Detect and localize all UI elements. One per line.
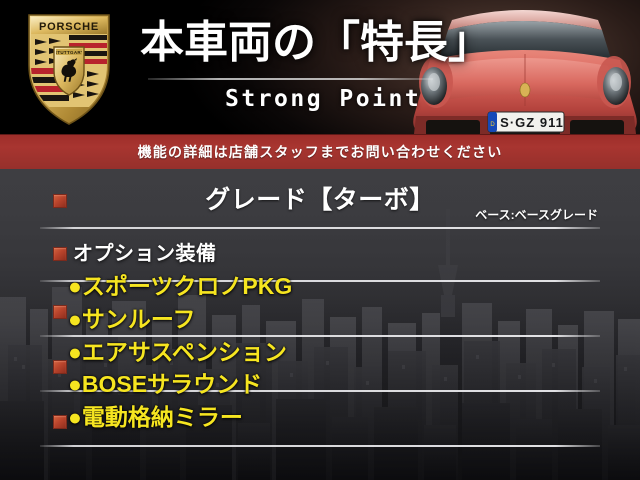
divider-line: [40, 445, 600, 447]
header-title: 本車両の「特長」: [140, 18, 492, 68]
square-bullet-icon: [53, 415, 67, 429]
header-divider: [148, 78, 433, 80]
header-banner: D S·GZ 911: [0, 0, 640, 134]
slide-root: D S·GZ 911: [0, 0, 640, 480]
contact-banner-text: 機能の詳細は店舗スタッフまでお問い合わせください: [138, 142, 503, 162]
grade-base-label: ベース:ベースグレード: [475, 206, 598, 223]
content-area: グレード【ターボ】 ベース:ベースグレード オプション装備 ●スポーツクロノPK…: [0, 169, 640, 480]
svg-text:D: D: [490, 122, 495, 128]
square-bullet-icon: [53, 247, 67, 261]
option-item: ●サンルーフ: [68, 300, 196, 334]
option-item: ●エアサスペンション: [68, 333, 287, 367]
divider-line: [40, 227, 600, 229]
option-item: ●電動格納ミラー: [68, 398, 243, 432]
license-plate: D S·GZ 911: [488, 112, 564, 132]
header-subtitle: Strong Point: [225, 86, 421, 112]
option-item: ●スポーツクロノPKG: [68, 267, 292, 301]
options-heading: オプション装備: [73, 237, 217, 266]
svg-text:PORSCHE: PORSCHE: [39, 21, 99, 33]
option-item: ●BOSEサラウンド: [68, 365, 262, 399]
square-bullet-icon: [53, 305, 67, 319]
square-bullet-icon: [53, 360, 67, 374]
porsche-crest-icon: PORSCHE STUTTGART: [23, 9, 115, 127]
svg-text:S·GZ 911: S·GZ 911: [500, 115, 564, 130]
contact-banner: 機能の詳細は店舗スタッフまでお問い合わせください: [0, 134, 640, 169]
svg-text:STUTTGART: STUTTGART: [54, 50, 84, 55]
